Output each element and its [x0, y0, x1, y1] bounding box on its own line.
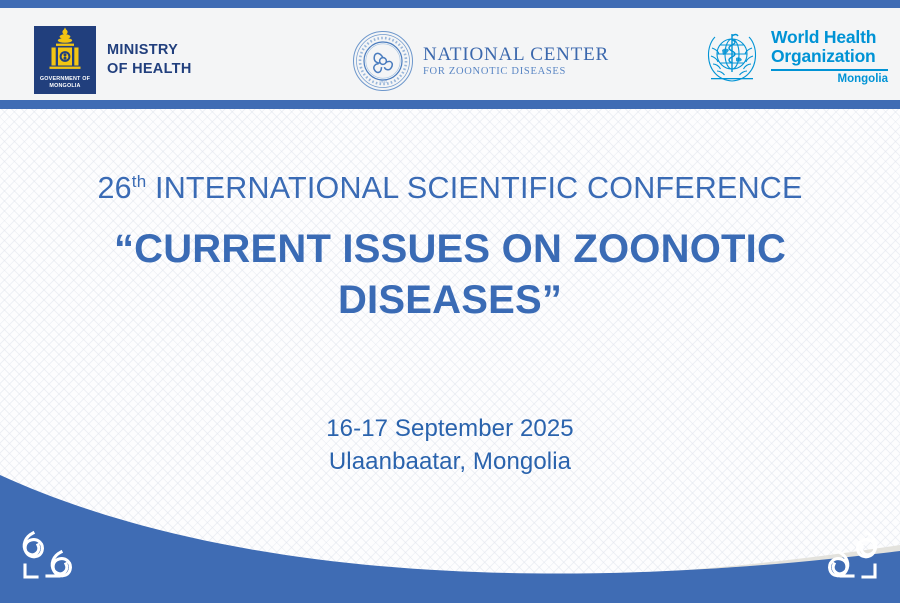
conference-ordinal-title: 26th INTERNATIONAL SCIENTIFIC CONFERENCE: [0, 169, 900, 207]
who-logo: World Health Organization Mongolia: [702, 28, 888, 86]
national-center-line2: FOR ZOONOTIC DISEASES: [423, 65, 609, 78]
ministry-of-health-logo: GOVERNMENT OF MONGOLIA MINISTRY OF HEALT…: [34, 26, 192, 94]
zoonotic-seal-icon: 1951: [352, 30, 414, 92]
mongolian-knot-ornament-right: [818, 527, 886, 583]
conference-ordinal-suffix: th: [132, 172, 147, 191]
seal-year: 1951: [379, 79, 387, 84]
conference-number: 26: [97, 171, 131, 205]
national-center-logo: 1951 NATIONAL CENTER FOR ZOONOTIC DISEAS…: [352, 30, 609, 92]
event-date: 16-17 September 2025: [0, 412, 900, 445]
header-divider-bar: [0, 100, 900, 109]
emblem-caption-line1: GOVERNMENT OF: [34, 76, 96, 83]
conference-subtitle: “CURRENT ISSUES ON ZOONOTIC DISEASES”: [0, 224, 900, 326]
who-line2: Organization: [771, 47, 888, 66]
title-block: 26th INTERNATIONAL SCIENTIFIC CONFERENCE…: [0, 169, 900, 326]
conference-title-rest: INTERNATIONAL SCIENTIFIC CONFERENCE: [146, 171, 802, 205]
emblem-caption: GOVERNMENT OF MONGOLIA: [34, 76, 96, 90]
logo-header-band: GOVERNMENT OF MONGOLIA MINISTRY OF HEALT…: [0, 8, 900, 100]
ministry-of-health-name: MINISTRY OF HEALTH: [107, 41, 192, 79]
top-accent-bar: [0, 0, 900, 8]
wave-blue-layer: [0, 475, 900, 603]
who-name: World Health Organization Mongolia: [771, 28, 888, 86]
bottom-wave-band: [0, 453, 900, 603]
ministry-name-line1: MINISTRY: [107, 41, 192, 60]
who-line1: World Health: [771, 28, 888, 47]
ministry-name-line2: OF HEALTH: [107, 60, 192, 79]
who-country: Mongolia: [771, 73, 888, 86]
mongolia-soyombo-emblem: GOVERNMENT OF MONGOLIA: [34, 26, 96, 94]
mongolian-knot-ornament-left: [14, 527, 82, 583]
who-underline: [771, 69, 888, 71]
who-emblem-icon: [702, 28, 762, 86]
emblem-caption-line2: MONGOLIA: [34, 83, 96, 90]
conference-title-slide: GOVERNMENT OF MONGOLIA MINISTRY OF HEALT…: [0, 0, 900, 603]
national-center-name: NATIONAL CENTER FOR ZOONOTIC DISEASES: [423, 44, 609, 78]
national-center-line1: NATIONAL CENTER: [423, 44, 609, 65]
